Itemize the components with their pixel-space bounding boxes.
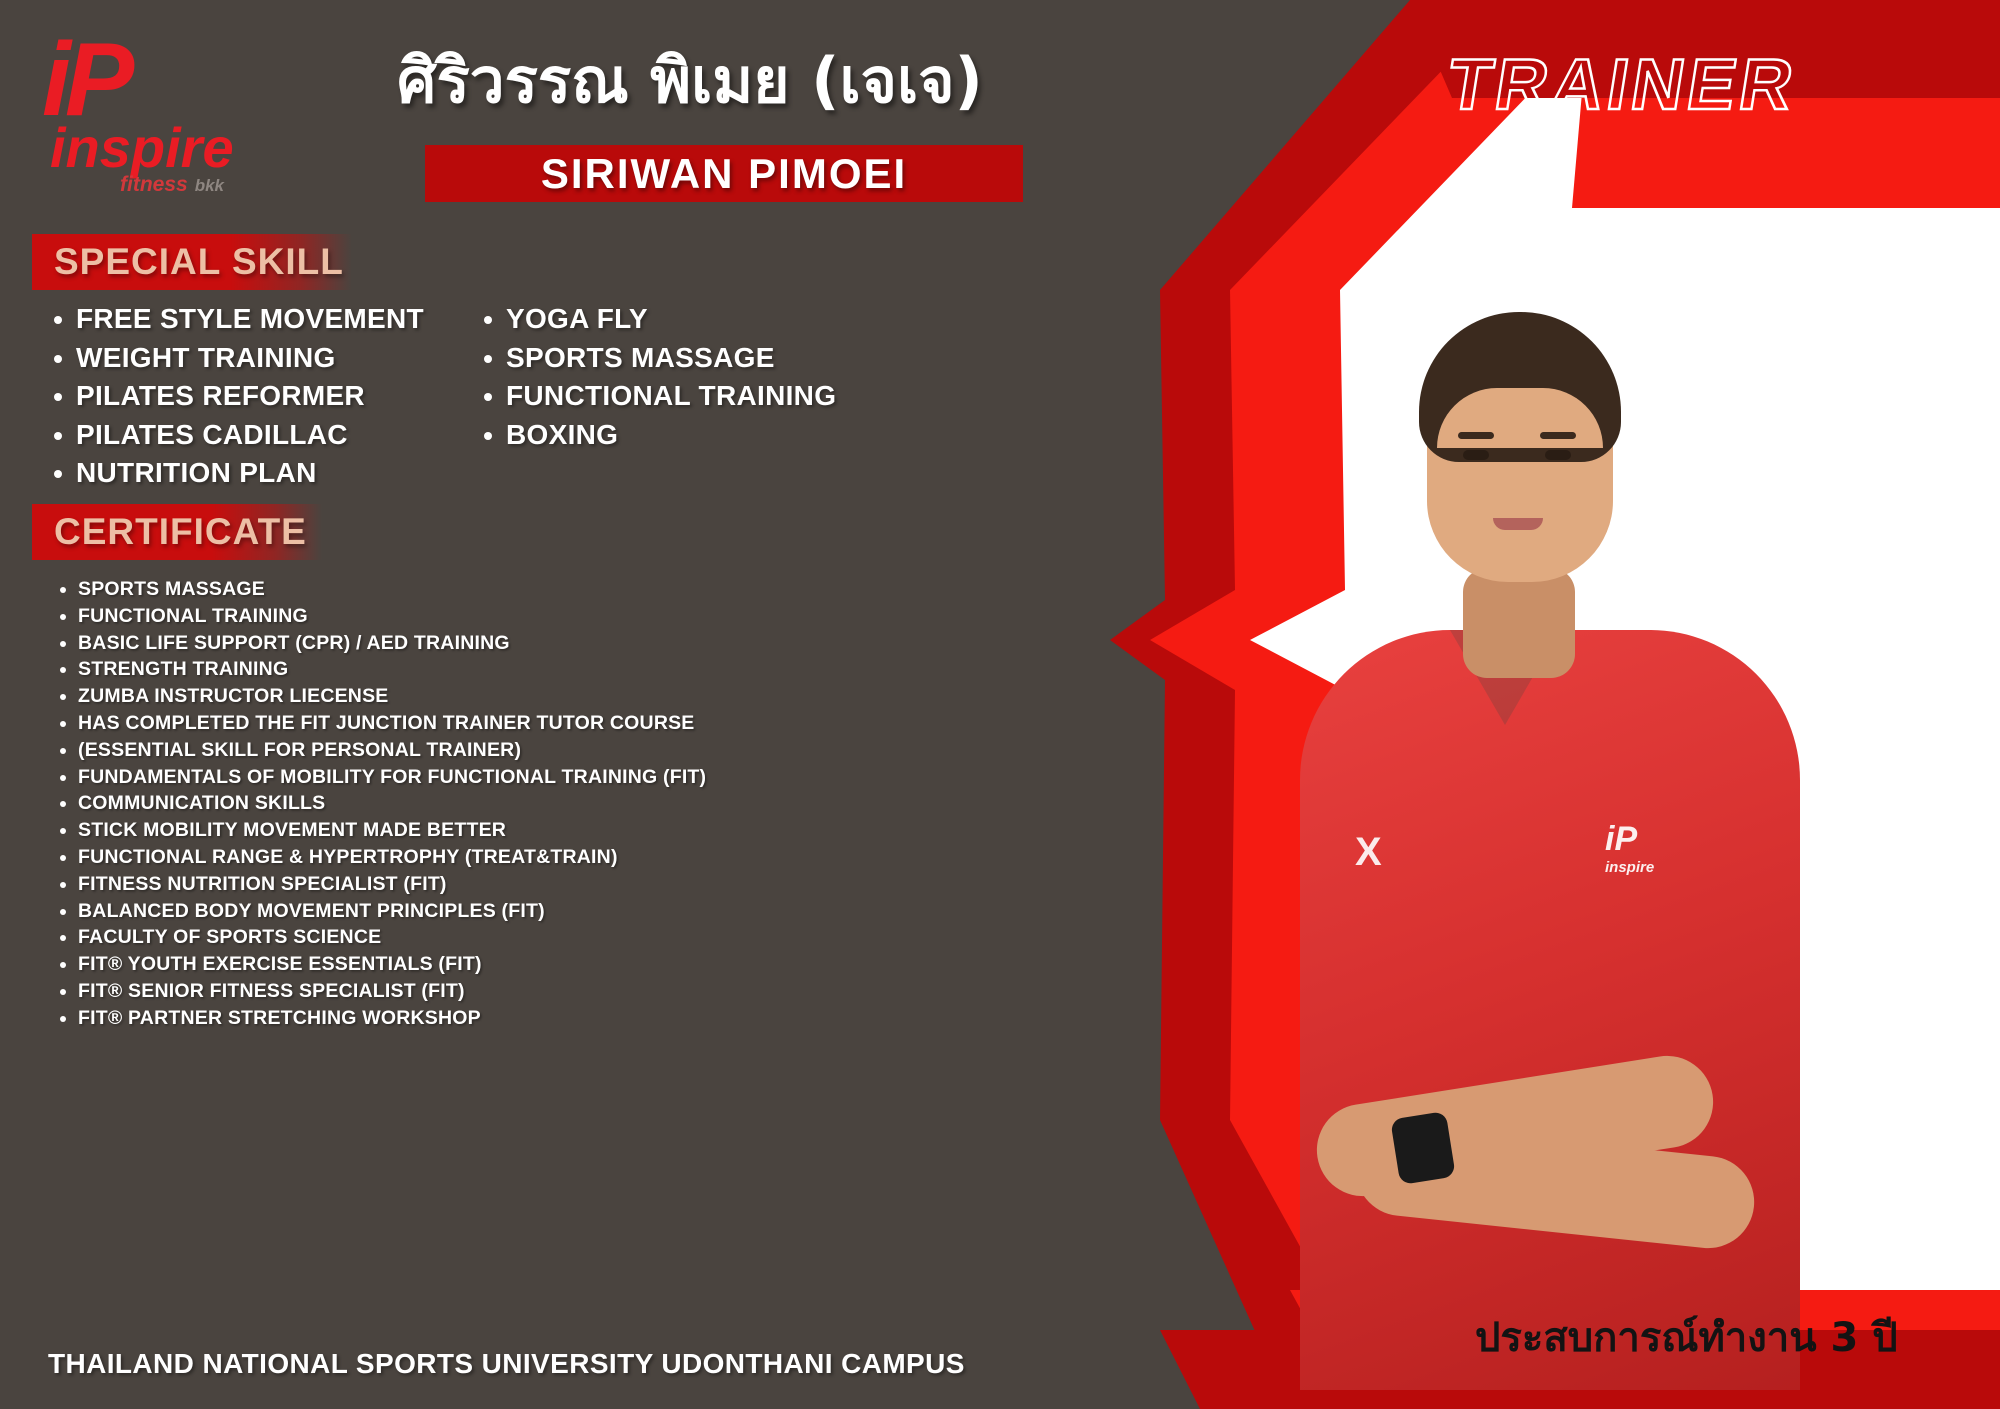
list-item: FUNCTIONAL TRAINING	[506, 377, 836, 416]
portrait-eyebrow-right	[1540, 432, 1576, 439]
portrait-eye-left	[1463, 450, 1489, 460]
special-skill-heading: SPECIAL SKILL	[32, 234, 352, 290]
certificate-list: SPORTS MASSAGE FUNCTIONAL TRAINING BASIC…	[50, 576, 706, 1032]
list-item: NUTRITION PLAN	[76, 454, 424, 493]
list-item: PILATES REFORMER	[76, 377, 424, 416]
trainer-name-thai: ศิริวรรณ พิเมย (เจเจ)	[330, 44, 1050, 118]
portrait-eye-right	[1545, 450, 1571, 460]
list-item: BALANCED BODY MOVEMENT PRINCIPLES (FIT)	[78, 898, 706, 925]
special-skill-column-2: YOGA FLY SPORTS MASSAGE FUNCTIONAL TRAIN…	[472, 300, 836, 454]
trainer-name-english: SIRIWAN PIMOEI	[425, 145, 1023, 202]
certificate-heading: CERTIFICATE	[32, 504, 322, 560]
shirt-emblem-icon: X	[1355, 830, 1382, 875]
list-item: YOGA FLY	[506, 300, 836, 339]
list-item: PILATES CADILLAC	[76, 416, 424, 455]
list-item: FUNCTIONAL RANGE & HYPERTROPHY (TREAT&TR…	[78, 844, 706, 871]
logo-tagline-bkk: bkk	[195, 176, 224, 195]
logo-mark-ip: iP	[42, 32, 222, 128]
list-item: FITNESS NUTRITION SPECIALIST (FIT)	[78, 871, 706, 898]
shirt-logo-mark: iP	[1605, 820, 1637, 858]
list-item: FUNDAMENTALS OF MOBILITY FOR FUNCTIONAL …	[78, 764, 706, 791]
list-item: STRENGTH TRAINING	[78, 656, 706, 683]
list-item: BASIC LIFE SUPPORT (CPR) / AED TRAINING	[78, 630, 706, 657]
trainer-profile-poster: iP inspire fitnessbkk ศิริวรรณ พิเมย (เจ…	[0, 0, 2000, 1409]
list-item: STICK MOBILITY MOVEMENT MADE BETTER	[78, 817, 706, 844]
list-item: ZUMBA INSTRUCTOR LIECENSE	[78, 683, 706, 710]
list-item: FIT® PARTNER STRETCHING WORKSHOP	[78, 1005, 706, 1032]
university-footer: THAILAND NATIONAL SPORTS UNIVERSITY UDON…	[48, 1348, 965, 1380]
list-item: SPORTS MASSAGE	[506, 339, 836, 378]
portrait-shirt	[1300, 630, 1800, 1390]
portrait-mouth	[1493, 518, 1543, 530]
portrait-eyebrow-left	[1458, 432, 1494, 439]
logo-tagline-fitness: fitness	[120, 173, 188, 196]
experience-years-thai: ประสบการณ์ทำงาน 3 ปี	[1475, 1305, 1898, 1369]
list-item: (ESSENTIAL SKILL FOR PERSONAL TRAINER)	[78, 737, 706, 764]
list-item: SPORTS MASSAGE	[78, 576, 706, 603]
trainer-name-english-banner: SIRIWAN PIMOEI	[425, 145, 1023, 202]
list-item: FREE STYLE MOVEMENT	[76, 300, 424, 339]
list-item: FACULTY OF SPORTS SCIENCE	[78, 924, 706, 951]
list-item: HAS COMPLETED THE FIT JUNCTION TRAINER T…	[78, 710, 706, 737]
portrait-wristwatch	[1390, 1111, 1456, 1185]
special-skill-column-1: FREE STYLE MOVEMENT WEIGHT TRAINING PILA…	[42, 300, 424, 493]
brand-logo: iP inspire fitnessbkk	[42, 32, 222, 192]
list-item: FUNCTIONAL TRAINING	[78, 603, 706, 630]
shirt-logo: iP inspire	[1605, 820, 1654, 876]
role-label-trainer: TRAINER	[1442, 44, 1803, 126]
portrait-neck	[1463, 568, 1575, 678]
list-item: FIT® SENIOR FITNESS SPECIALIST (FIT)	[78, 978, 706, 1005]
list-item: FIT® YOUTH EXERCISE ESSENTIALS (FIT)	[78, 951, 706, 978]
logo-wordmark-inspire: inspire	[50, 124, 222, 172]
list-item: COMMUNICATION SKILLS	[78, 790, 706, 817]
list-item: WEIGHT TRAINING	[76, 339, 424, 378]
logo-tagline: fitnessbkk	[120, 173, 222, 197]
list-item: BOXING	[506, 416, 836, 455]
shirt-logo-sub: inspire	[1605, 859, 1654, 876]
trainer-portrait-photo: X iP inspire	[1205, 200, 1895, 1390]
